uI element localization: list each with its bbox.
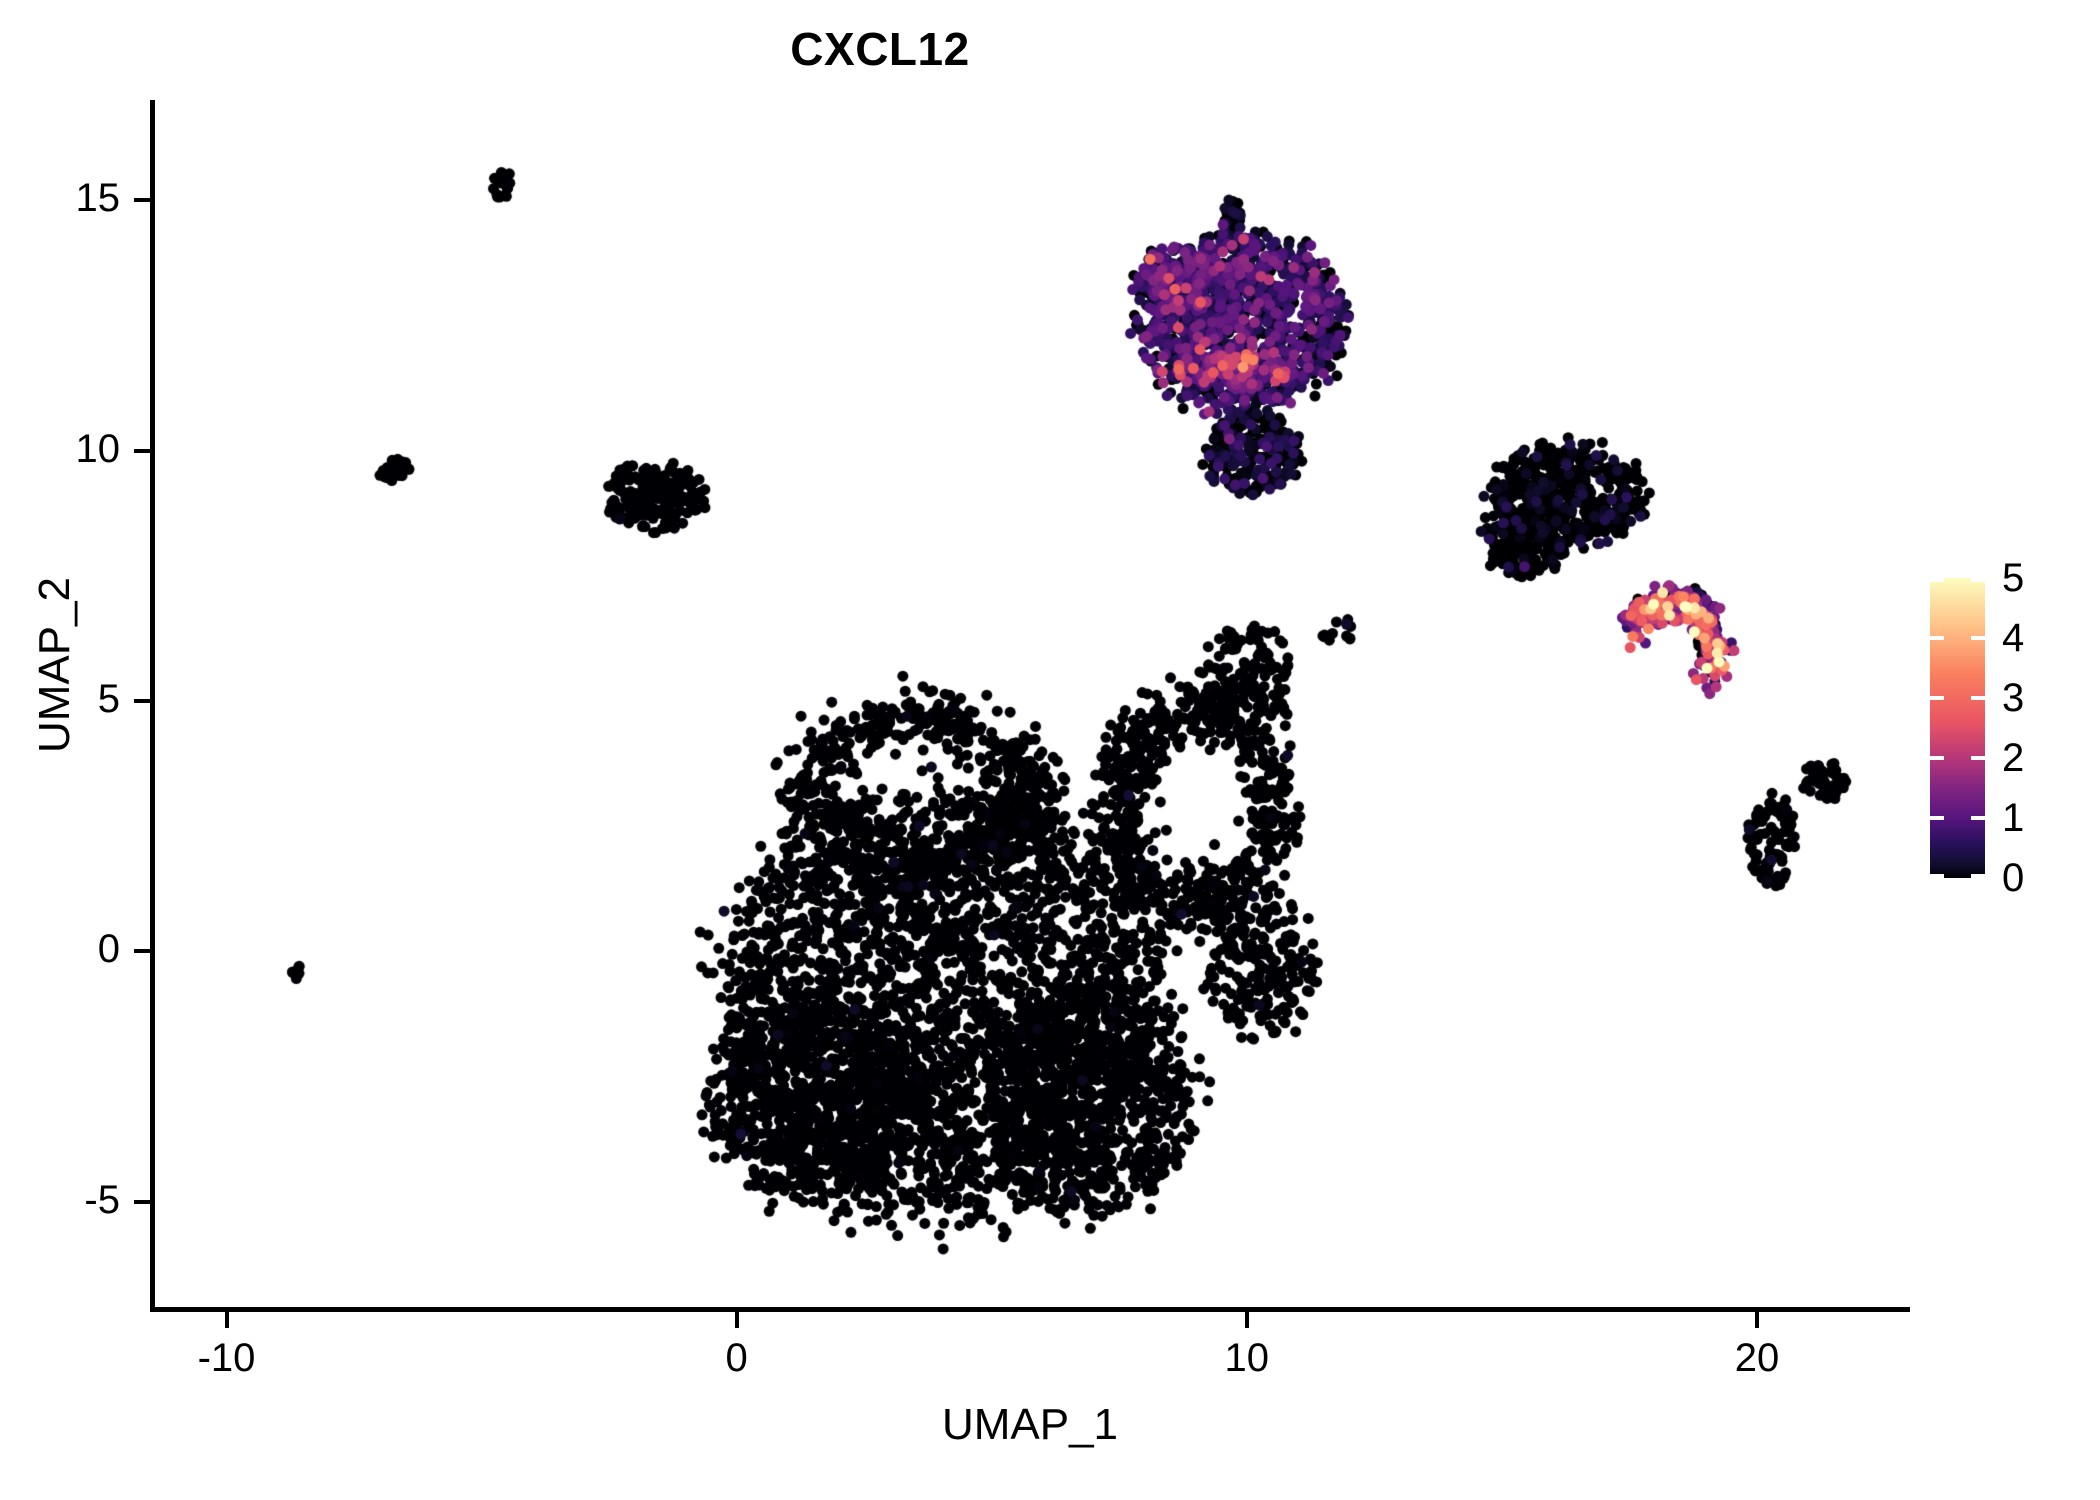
colorbar-tick-mark bbox=[1930, 696, 1944, 700]
x-tick-label: 0 bbox=[657, 1338, 817, 1378]
y-tick-label: 15 bbox=[0, 178, 120, 218]
colorbar-tick-label: 5 bbox=[2002, 558, 2024, 598]
x-tick-label: -10 bbox=[147, 1338, 307, 1378]
colorbar-tick-label: 4 bbox=[2002, 618, 2024, 658]
y-axis-line bbox=[150, 100, 155, 1312]
y-tick-mark bbox=[134, 449, 150, 453]
colorbar-tick-mark bbox=[1971, 816, 1985, 820]
x-tick-label: 10 bbox=[1167, 1338, 1327, 1378]
colorbar-tick-mark bbox=[1930, 816, 1944, 820]
colorbar-gradient bbox=[1930, 578, 1985, 878]
y-tick-mark bbox=[134, 699, 150, 703]
y-tick-label: -5 bbox=[0, 1180, 120, 1220]
umap-scatter-canvas bbox=[150, 100, 1910, 1312]
colorbar-tick-mark bbox=[1930, 874, 1944, 878]
y-axis-title: UMAP_2 bbox=[30, 345, 80, 985]
colorbar-tick-mark bbox=[1971, 636, 1985, 640]
colorbar-tick-mark bbox=[1930, 578, 1944, 582]
colorbar-tick-mark bbox=[1971, 756, 1985, 760]
colorbar-tick-label: 0 bbox=[2002, 858, 2024, 898]
scatter-plot-panel bbox=[150, 100, 1910, 1312]
page-title: CXCL12 bbox=[0, 22, 1760, 76]
x-tick-mark bbox=[225, 1312, 229, 1328]
colorbar-tick-mark bbox=[1971, 874, 1985, 878]
colorbar-tick-mark bbox=[1930, 636, 1944, 640]
x-axis-line bbox=[150, 1307, 1910, 1312]
colorbar-tick-mark bbox=[1930, 756, 1944, 760]
colorbar-tick-mark bbox=[1971, 578, 1985, 582]
colorbar-legend: 012345 bbox=[1930, 578, 1985, 878]
x-tick-mark bbox=[1245, 1312, 1249, 1328]
x-tick-mark bbox=[1755, 1312, 1759, 1328]
x-tick-mark bbox=[735, 1312, 739, 1328]
colorbar-tick-label: 3 bbox=[2002, 678, 2024, 718]
y-tick-mark bbox=[134, 1200, 150, 1204]
feature-plot-figure: CXCL12 -5051015 -1001020 UMAP_1 UMAP_2 0… bbox=[0, 0, 2100, 1500]
colorbar-tick-label: 1 bbox=[2002, 798, 2024, 838]
y-tick-mark bbox=[134, 198, 150, 202]
x-axis-title: UMAP_1 bbox=[150, 1400, 1910, 1450]
y-tick-mark bbox=[134, 949, 150, 953]
colorbar-tick-mark bbox=[1971, 696, 1985, 700]
colorbar-tick-label: 2 bbox=[2002, 738, 2024, 778]
x-tick-label: 20 bbox=[1677, 1338, 1837, 1378]
